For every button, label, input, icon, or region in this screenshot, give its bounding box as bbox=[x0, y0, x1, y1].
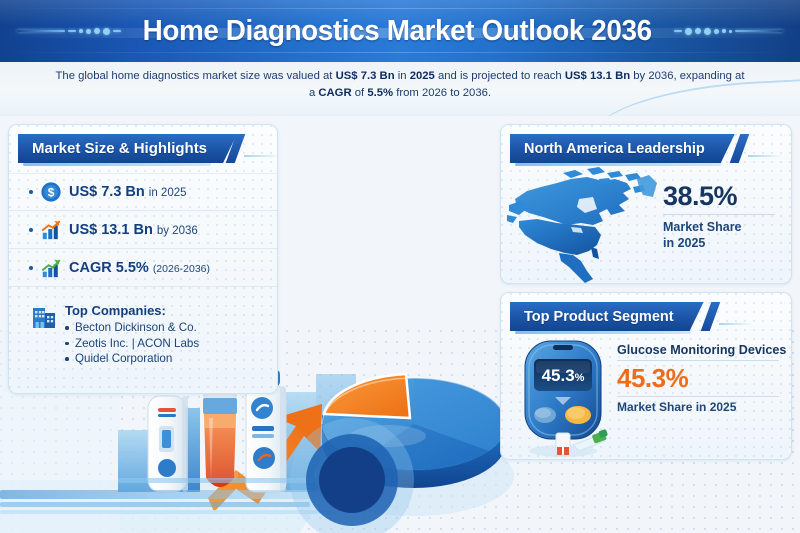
title-underline bbox=[23, 163, 211, 166]
page-title-row: Home Diagnostics Market Outlook 2036 bbox=[0, 0, 800, 62]
dot-dash-decoration-right bbox=[674, 28, 783, 35]
slash-line bbox=[719, 323, 753, 325]
divider bbox=[663, 214, 775, 215]
slash-line bbox=[748, 155, 782, 157]
na-label-line1: Market Share bbox=[663, 219, 787, 235]
infographic-canvas: Home Diagnostics Market Outlook 2036 The… bbox=[0, 0, 800, 533]
panel-title-north-america: North America Leadership bbox=[510, 134, 735, 163]
title-underline bbox=[515, 331, 691, 334]
list-item: US$ 13.1 Bn by 2036 bbox=[9, 211, 278, 249]
na-percent-value: 38.5% bbox=[663, 181, 787, 211]
subtitle-text: The global home diagnostics market size … bbox=[0, 62, 800, 102]
header-banner: Home Diagnostics Market Outlook 2036 bbox=[0, 0, 800, 62]
segment-percent-value: 45.3% bbox=[617, 364, 789, 393]
page-title: Home Diagnostics Market Outlook 2036 bbox=[143, 15, 652, 48]
list-item: CAGR 5.5% (2026-2036) bbox=[9, 249, 278, 287]
na-label-line2: in 2025 bbox=[663, 235, 787, 251]
office-building-icon bbox=[31, 304, 57, 330]
north-america-leadership-panel: North America Leadership bbox=[500, 124, 792, 284]
product-segment-stat: Glucose Monitoring Devices 45.3% Market … bbox=[617, 343, 789, 414]
segment-name: Glucose Monitoring Devices bbox=[617, 343, 789, 357]
top-product-segment-panel: Top Product Segment 45.3% bbox=[500, 292, 792, 460]
highlight-value: CAGR 5.5% (2026-2036) bbox=[69, 260, 210, 276]
highlights-list: $ US$ 7.3 Bn in 2025 US$ 13.1 bbox=[9, 173, 278, 287]
list-item: Becton Dickinson & Co. bbox=[65, 320, 199, 336]
highlight-value: US$ 7.3 Bn in 2025 bbox=[69, 184, 187, 200]
north-america-stat: 38.5% Market Share in 2025 bbox=[663, 181, 787, 251]
market-size-highlights-panel: Market Size & Highlights $ US$ 7.3 Bn in… bbox=[8, 124, 278, 394]
slash-line bbox=[244, 155, 278, 157]
bullet-dot bbox=[29, 190, 33, 194]
dollar-coin-icon: $ bbox=[40, 181, 62, 203]
svg-text:$: $ bbox=[48, 186, 55, 200]
subtitle-band: The global home diagnostics market size … bbox=[0, 62, 800, 116]
rapid-test-cassette bbox=[148, 396, 188, 492]
list-item: Quidel Corporation bbox=[65, 351, 199, 367]
list-item: Zeotis Inc. | ACON Labs bbox=[65, 336, 199, 352]
bar-chart-green-arrow-icon bbox=[40, 257, 62, 279]
bullet-dot bbox=[29, 266, 33, 270]
glucose-meter-icon: 45.3% bbox=[515, 335, 611, 457]
panel-title-market-size: Market Size & Highlights bbox=[18, 134, 237, 163]
companies-title: Top Companies: bbox=[65, 303, 199, 318]
divider bbox=[617, 396, 779, 397]
bar-chart-orange-arrow-icon bbox=[40, 219, 62, 241]
divider bbox=[617, 360, 779, 361]
slash-accent bbox=[701, 302, 721, 331]
bullet-dot bbox=[29, 228, 33, 232]
highlight-value: US$ 13.1 Bn by 2036 bbox=[69, 222, 198, 238]
segment-label: Market Share in 2025 bbox=[617, 400, 789, 414]
list-item: $ US$ 7.3 Bn in 2025 bbox=[9, 173, 278, 211]
top-companies-block: Top Companies: Becton Dickinson & Co. Ze… bbox=[9, 295, 278, 367]
north-america-map bbox=[507, 165, 657, 283]
blood-sample-vial bbox=[202, 384, 238, 487]
panel-title-product-segment: Top Product Segment bbox=[510, 302, 704, 331]
dot-dash-decoration-left bbox=[17, 28, 121, 35]
